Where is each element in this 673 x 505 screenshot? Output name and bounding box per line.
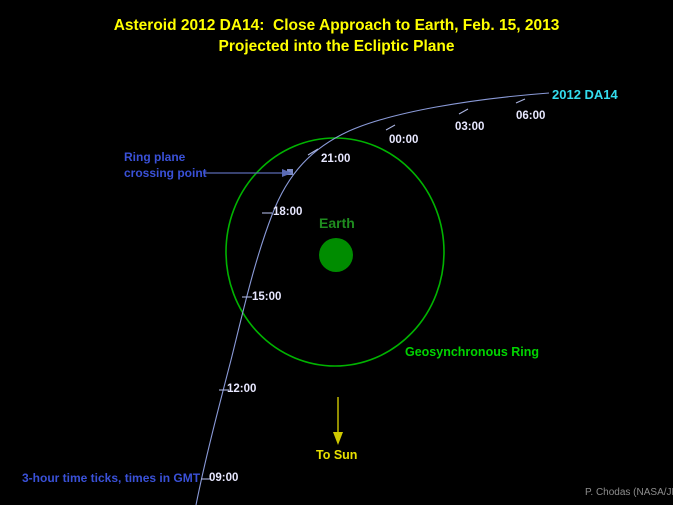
ring-plane-annotation-line1: Ring plane [124, 150, 185, 165]
credit-line: P. Chodas (NASA/JPL) [585, 487, 673, 499]
earth-body [319, 238, 353, 272]
asteroid-trajectory-figure: Asteroid 2012 DA14: Close Approach to Ea… [0, 0, 673, 505]
to-sun-label: To Sun [316, 448, 357, 463]
diagram-canvas [0, 0, 673, 505]
tick-label-0300: 03:00 [455, 120, 484, 134]
tick-label-0000: 00:00 [389, 133, 418, 147]
tick-label-1800: 18:00 [273, 205, 302, 219]
geosynchronous-ring-label: Geosynchronous Ring [405, 345, 539, 360]
earth-label: Earth [319, 215, 355, 232]
ring-plane-arrow [203, 169, 292, 177]
asteroid-name-label: 2012 DA14 [552, 87, 618, 103]
tick-label-0900: 09:00 [209, 471, 238, 485]
tick-label-2100: 21:00 [321, 152, 350, 166]
page-title-line2: Projected into the Ecliptic Plane [0, 38, 673, 57]
tick-label-0600: 06:00 [516, 109, 545, 123]
asteroid-trajectory-path [196, 93, 549, 505]
tick-label-1500: 15:00 [252, 290, 281, 304]
time-tick-legend: 3-hour time ticks, times in GMT [22, 471, 200, 486]
to-sun-arrow [333, 397, 343, 445]
tick-label-1200: 12:00 [227, 382, 256, 396]
ring-plane-annotation-line2: crossing point [124, 166, 207, 181]
page-title-line1: Asteroid 2012 DA14: Close Approach to Ea… [0, 17, 673, 36]
time-tick-marks [201, 99, 525, 479]
